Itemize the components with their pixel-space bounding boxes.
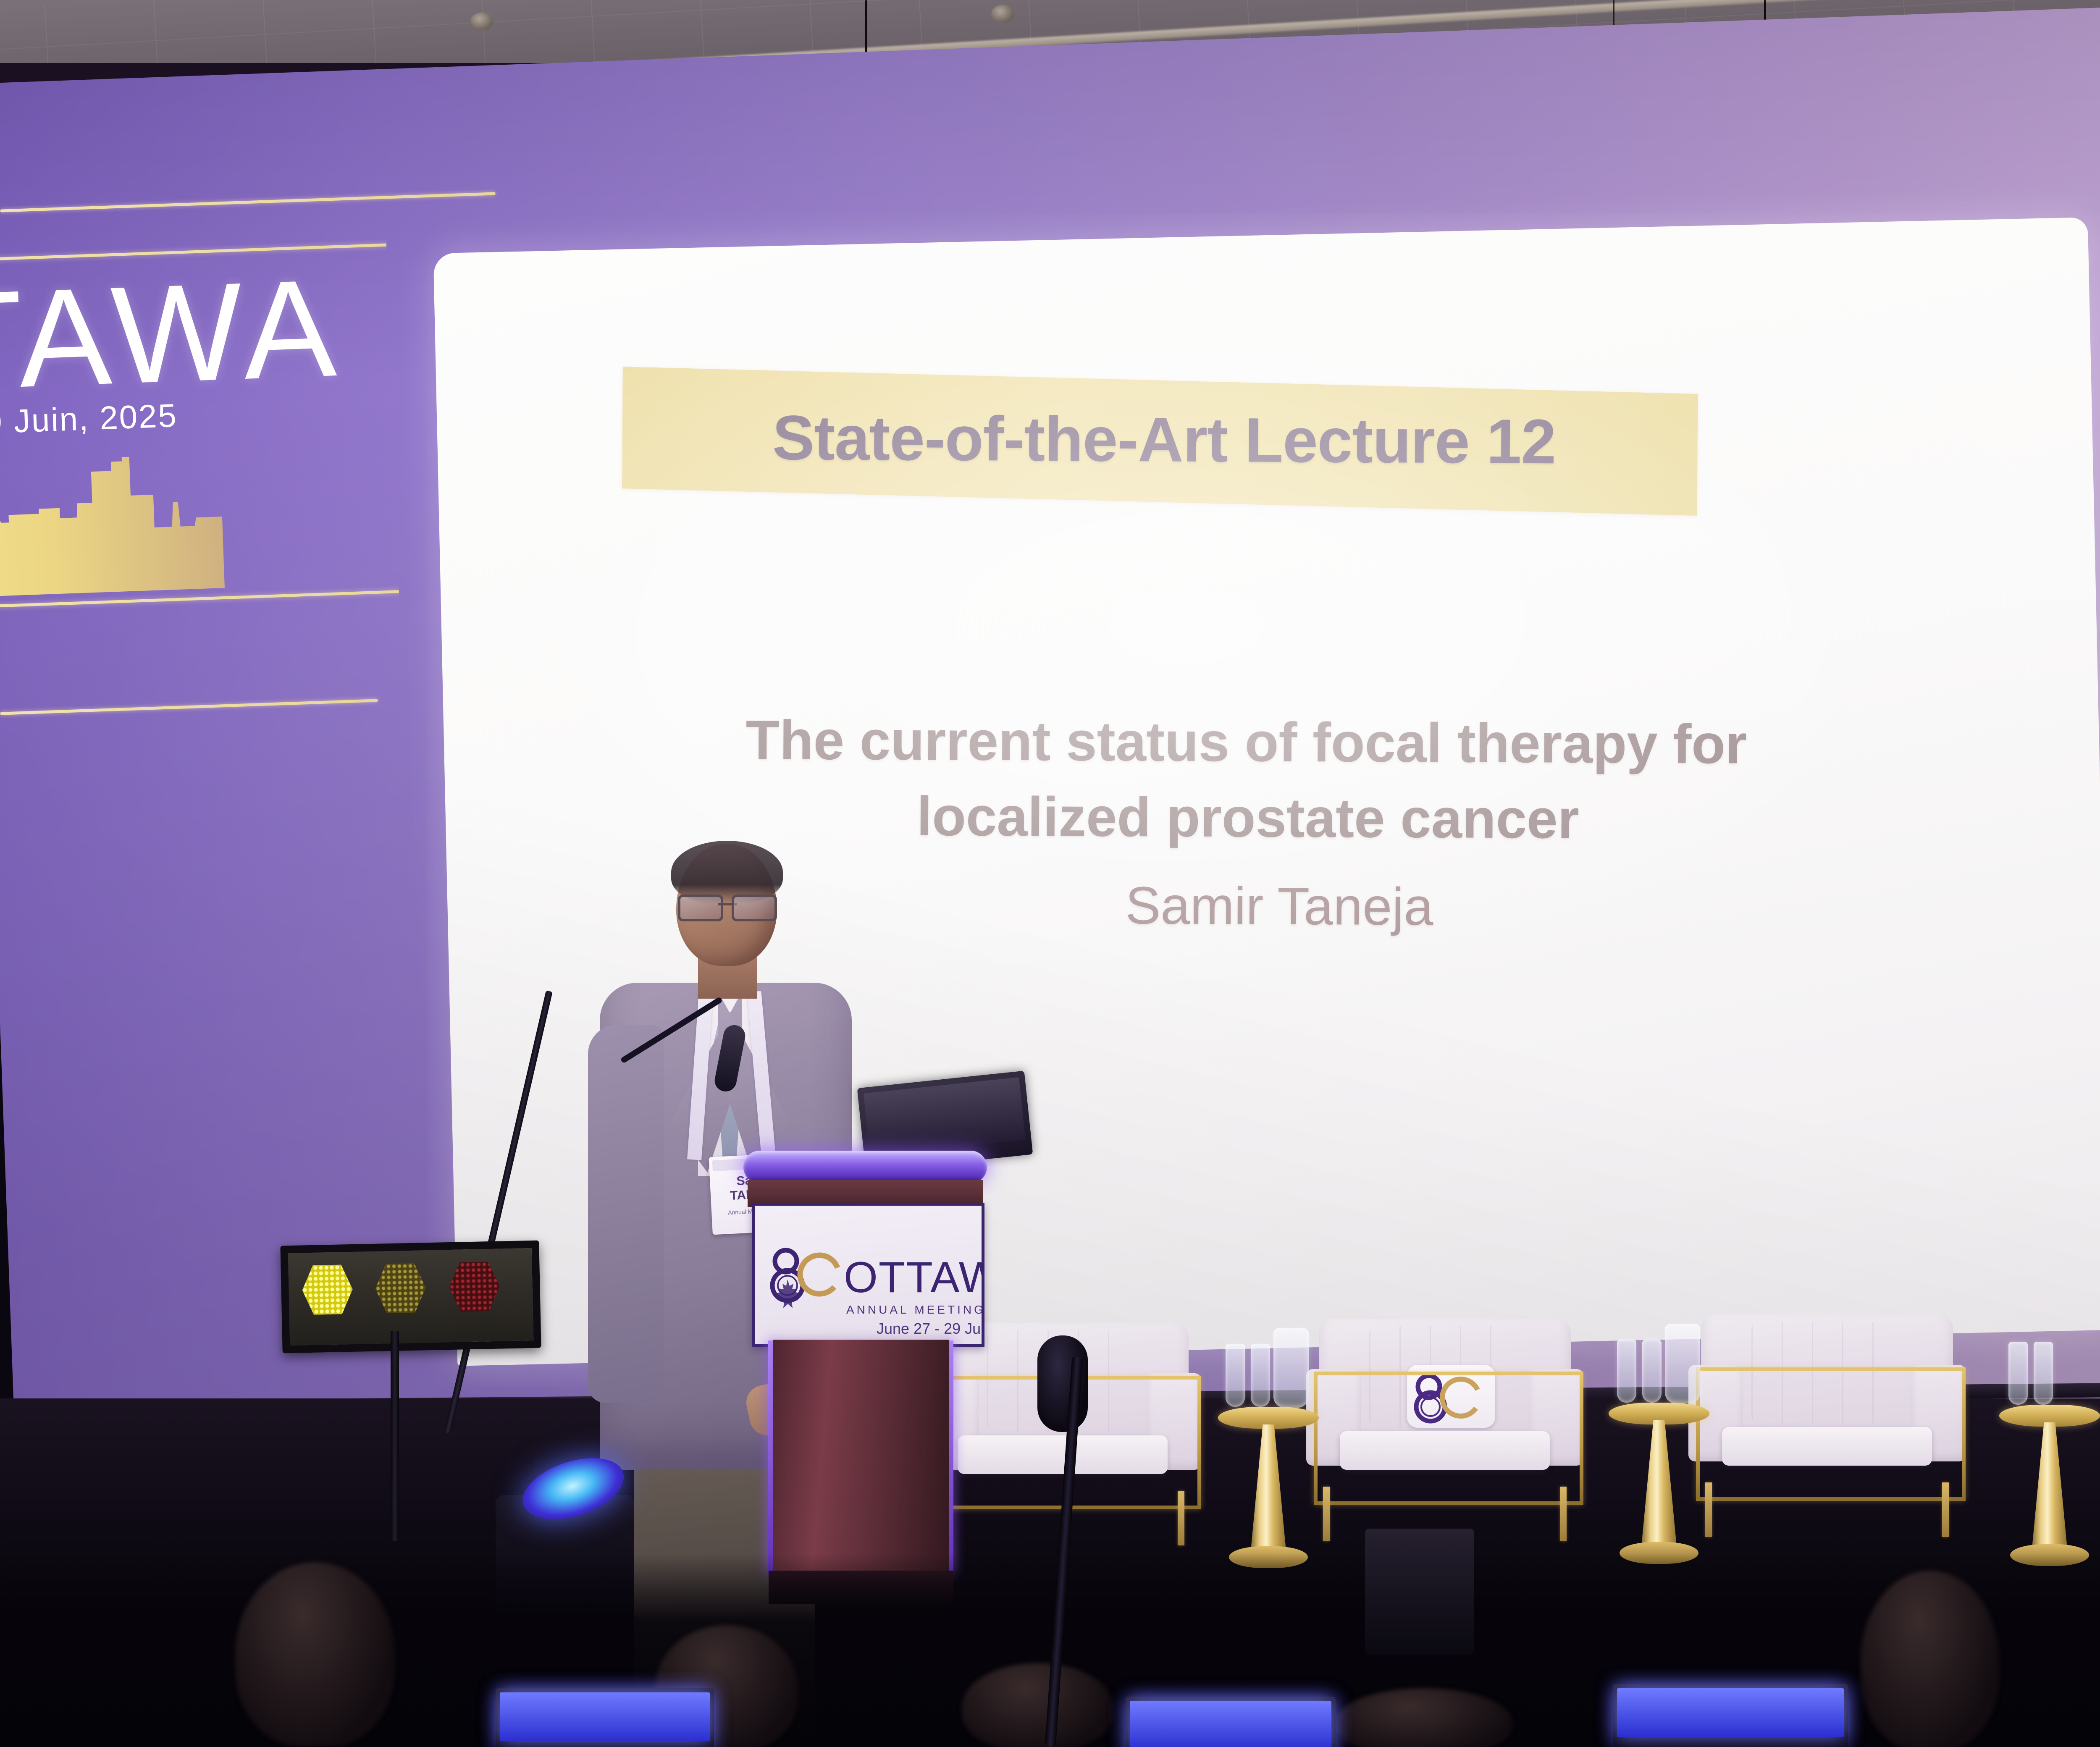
audience-head bbox=[235, 1562, 395, 1747]
ottawa-skyline-icon bbox=[0, 447, 399, 601]
lectern-subtitle-text: ANNUAL MEETING CONGRÈS ANNUEL bbox=[846, 1303, 984, 1317]
ottawa-dates-text: 27 - 29 Juin, 2025 bbox=[0, 396, 178, 445]
eightieth-logo-icon bbox=[766, 1243, 850, 1306]
audience-head bbox=[962, 1663, 1113, 1747]
slide-title: State-of-the-Art Lecture 12 bbox=[656, 401, 1672, 479]
water-carafe bbox=[1273, 1328, 1309, 1408]
water-glass bbox=[2034, 1342, 2053, 1405]
lectern-body bbox=[773, 1340, 949, 1575]
audience-monitor-screen bbox=[496, 1688, 714, 1747]
timer-warning-lamp-icon bbox=[375, 1263, 426, 1313]
lectern-lit-edge bbox=[743, 1151, 987, 1183]
conference-photo-scene: TTAWA 27 - 29 Juin, 2025 bbox=[0, 0, 2100, 1747]
lectern-city-text: OTTAWA bbox=[844, 1253, 984, 1303]
camera-rig bbox=[1365, 1529, 1474, 1655]
speaker-timer-light bbox=[280, 1241, 541, 1354]
lectern-sign: OTTAWA ANNUAL MEETING CONGRÈS ANNUEL Jun… bbox=[752, 1203, 984, 1347]
slide-body-line-1: The current status of focal therapy for bbox=[553, 707, 1940, 776]
slide-body-line-2: localized prostate cancer bbox=[555, 783, 1941, 852]
lectern-dates-text: June 27 - 29 Juin, 2025 bbox=[877, 1320, 984, 1338]
water-glass bbox=[1251, 1344, 1270, 1407]
stage-armchair bbox=[1306, 1319, 1583, 1503]
audience-monitor-screen bbox=[1613, 1684, 1848, 1747]
water-glass bbox=[2008, 1342, 2028, 1405]
water-glass bbox=[1226, 1344, 1245, 1407]
timer-stop-lamp-icon bbox=[449, 1262, 500, 1312]
eyeglasses-icon bbox=[678, 894, 777, 917]
timer-go-lamp-icon bbox=[302, 1264, 353, 1315]
audience-head bbox=[1861, 1571, 1999, 1747]
water-glass bbox=[1617, 1340, 1636, 1403]
water-carafe bbox=[1665, 1324, 1700, 1403]
lectern-glow-strip bbox=[768, 1340, 773, 1576]
stage-armchair bbox=[1688, 1314, 1966, 1499]
water-glass bbox=[1642, 1340, 1662, 1403]
speaker-arm bbox=[588, 1025, 664, 1403]
audience-monitor-screen bbox=[1126, 1697, 1336, 1747]
backdrop-left-banner: TTAWA 27 - 29 Juin, 2025 bbox=[0, 238, 403, 722]
timer-light-stand bbox=[391, 1331, 399, 1541]
